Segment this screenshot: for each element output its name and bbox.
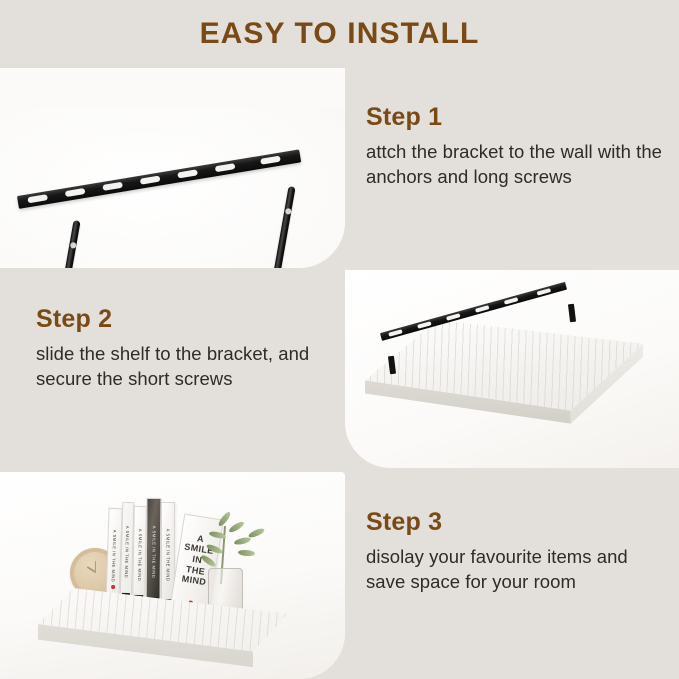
shelf-board <box>365 320 643 428</box>
bracket-slot <box>504 297 518 304</box>
step-1-heading: Step 1 <box>366 103 666 132</box>
book-title: A SMILE IN THE MIND <box>151 526 156 579</box>
book-title: A SMILE IN THE MIND <box>137 529 143 582</box>
step-1-text-block: Step 1 attch the bracket to the wall wit… <box>366 103 666 190</box>
bracket-slot <box>446 313 460 320</box>
shelf-with-bracket-photo <box>345 270 679 468</box>
book-title: A SMILE IN THE MIND <box>111 530 118 583</box>
step-3-heading: Step 3 <box>366 508 671 537</box>
bracket-slot <box>388 329 402 336</box>
step-3-image-panel: A SMILE IN THE MIND A SMILE IN THE MIND … <box>0 472 345 679</box>
step-3-body: disolay your favourite items and save sp… <box>366 544 671 595</box>
step-1-body: attch the bracket to the wall with the a… <box>366 139 666 190</box>
step-3-text-block: Step 3 disolay your favourite items and … <box>366 508 671 595</box>
wall-bracket-photo <box>0 68 345 268</box>
plant-leaf <box>247 527 265 538</box>
bracket-slot <box>102 182 123 191</box>
bracket-slot <box>215 163 236 172</box>
plant-leaf <box>228 520 246 533</box>
mounted-shelf-board <box>38 588 288 674</box>
book-title: A SMILE IN THE MIND <box>166 529 171 581</box>
step-2-text-block: Step 2 slide the shelf to the bracket, a… <box>36 305 336 392</box>
bracket-slot <box>475 305 489 312</box>
page-title: EASY TO INSTALL <box>200 17 480 51</box>
step-2-heading: Step 2 <box>36 305 336 334</box>
bracket-slot <box>537 288 551 295</box>
bracket-slot <box>140 176 161 185</box>
bracket-slot <box>260 156 281 165</box>
step-1-image-panel <box>0 68 345 268</box>
header-bar: EASY TO INSTALL <box>0 0 679 68</box>
bracket-foot-right <box>568 304 576 323</box>
bracket-slot <box>417 321 431 328</box>
bracket-slot <box>65 188 86 197</box>
plant-leaf <box>238 549 256 557</box>
bracket-slot <box>177 170 198 179</box>
bracket-slot <box>27 194 48 203</box>
plant-leaf <box>234 537 252 546</box>
styled-shelf-photo: A SMILE IN THE MIND A SMILE IN THE MIND … <box>0 472 345 679</box>
book-title: A SMILE IN THE MIND <box>124 526 130 579</box>
step-2-image-panel <box>345 270 679 468</box>
step-2-body: slide the shelf to the bracket, and secu… <box>36 341 336 392</box>
